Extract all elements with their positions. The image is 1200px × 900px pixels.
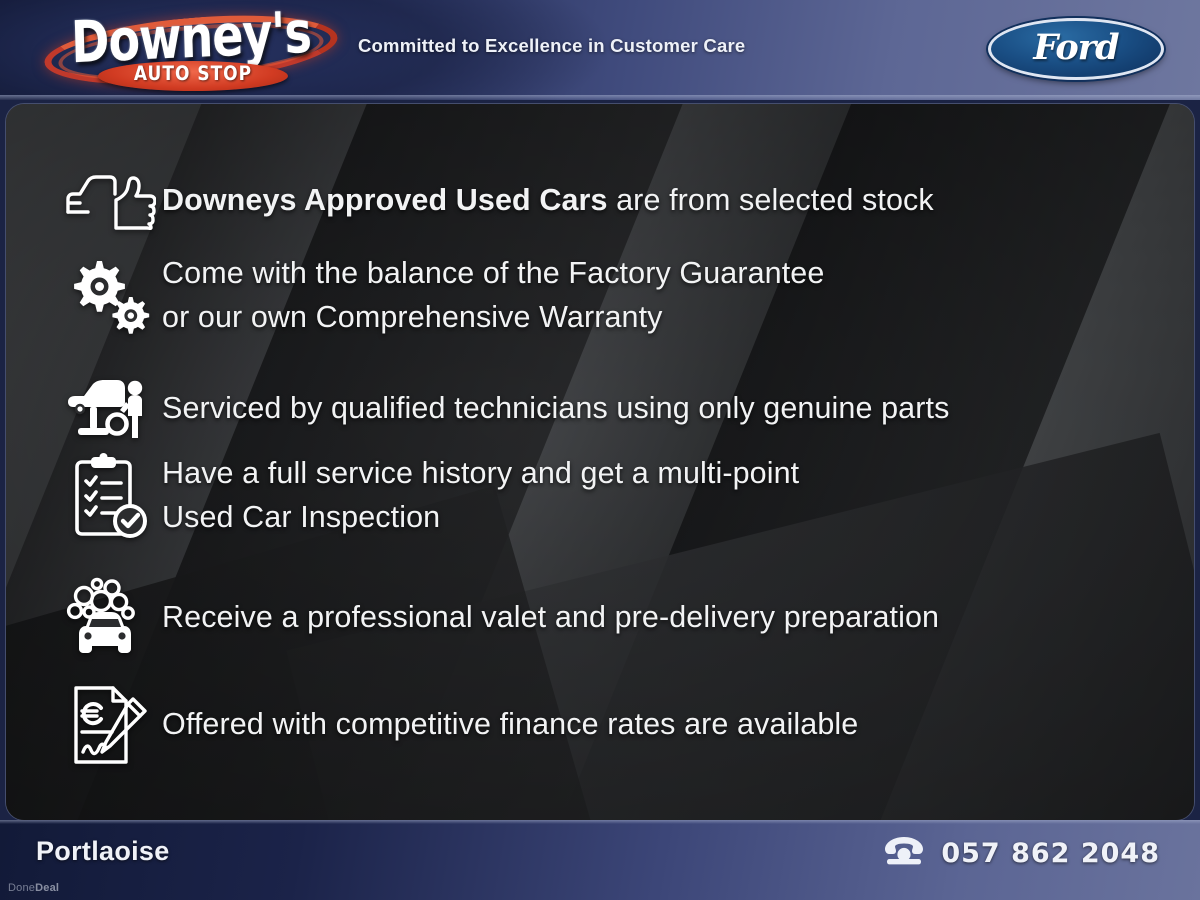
benefit-item-valet-preparation: Receive a professional valet and pre-del… <box>58 576 1164 660</box>
watermark-light: Done <box>8 882 35 894</box>
benefit-text-line1: Receive a professional valet and pre-del… <box>162 600 939 634</box>
car-wash-icon <box>58 576 162 660</box>
car-lift-technician-icon <box>58 376 162 442</box>
benefit-text-bold: Downeys Approved Used Cars <box>162 183 608 217</box>
benefit-text-line1: Have a full service history and get a mu… <box>162 452 799 496</box>
benefit-text-rest: are from selected stock <box>608 183 934 217</box>
benefit-text-line1: Come with the balance of the Factory Gua… <box>162 252 824 296</box>
phone-number[interactable]: 057 862 2048 <box>941 838 1160 869</box>
benefit-text: Receive a professional valet and pre-del… <box>162 596 939 640</box>
watermark-bold: Deal <box>35 882 59 894</box>
euro-document-pen-icon <box>58 682 162 768</box>
benefit-item-finance-rates: Offered with competitive finance rates a… <box>58 682 1164 768</box>
ford-wordmark: Ford <box>1033 27 1118 68</box>
benefit-item-serviced-technicians: Serviced by qualified technicians using … <box>58 376 1164 442</box>
benefits-list: Downeys Approved Used Cars are from sele… <box>6 104 1194 820</box>
donedeal-watermark: DoneDeal <box>8 882 59 894</box>
location-label: Portlaoise <box>36 836 170 867</box>
benefit-text-line2: or our own Comprehensive Warranty <box>162 296 824 340</box>
clipboard-check-icon <box>58 453 162 539</box>
ford-logo: Ford <box>988 18 1164 80</box>
tagline: Committed to Excellence in Customer Care <box>358 35 745 57</box>
benefit-text: Offered with competitive finance rates a… <box>162 703 858 747</box>
benefit-text-line2: Used Car Inspection <box>162 496 799 540</box>
advert-banner: Downey's AUTO STOP Committed to Excellen… <box>0 0 1200 900</box>
brand-subtitle: AUTO STOP <box>98 63 288 86</box>
benefit-text-line1: Serviced by qualified technicians using … <box>162 391 949 425</box>
benefit-text-line1: Offered with competitive finance rates a… <box>162 707 858 741</box>
car-thumbs-up-icon <box>58 172 162 230</box>
benefit-text: Serviced by qualified technicians using … <box>162 387 949 431</box>
benefit-text: Downeys Approved Used Cars are from sele… <box>162 179 934 223</box>
telephone-icon <box>883 836 925 871</box>
benefit-item-approved-used-cars: Downeys Approved Used Cars are from sele… <box>58 172 1164 230</box>
benefit-text: Have a full service history and get a mu… <box>162 452 799 540</box>
benefits-card: Downeys Approved Used Cars are from sele… <box>6 104 1194 820</box>
header-bar: Downey's AUTO STOP Committed to Excellen… <box>0 0 1200 100</box>
benefit-item-factory-guarantee: Come with the balance of the Factory Gua… <box>58 252 1164 340</box>
phone-block[interactable]: 057 862 2048 <box>883 836 1160 871</box>
downeys-logo: Downey's AUTO STOP <box>36 6 346 98</box>
benefit-text: Come with the balance of the Factory Gua… <box>162 252 824 340</box>
footer-bar: Portlaoise 057 862 2048 DoneDeal <box>0 820 1200 900</box>
gears-icon <box>58 257 162 335</box>
benefit-item-service-history: Have a full service history and get a mu… <box>58 452 1164 540</box>
